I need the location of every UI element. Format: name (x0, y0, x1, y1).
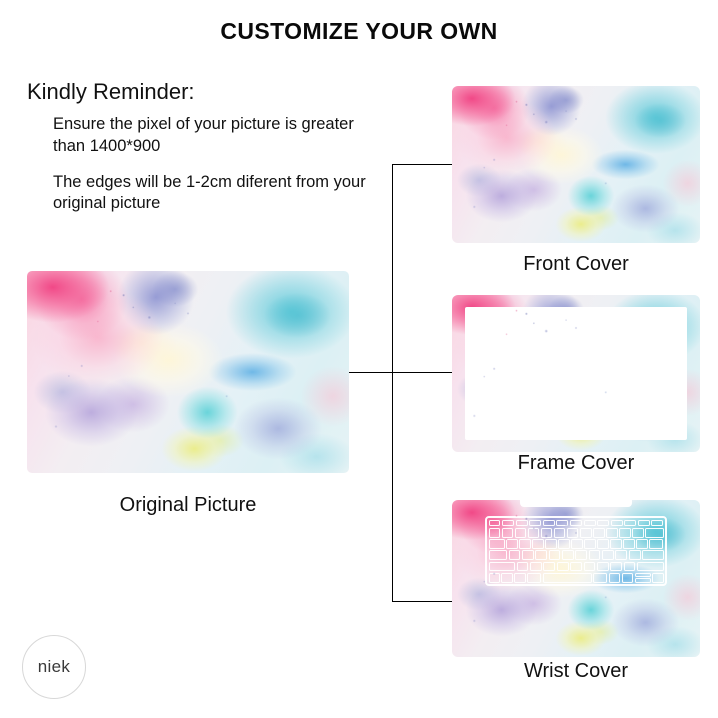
key (554, 528, 565, 538)
key (632, 528, 643, 538)
keyboard-row-home (489, 550, 664, 560)
key (506, 539, 517, 549)
connector-stem-line (349, 372, 392, 373)
key (528, 528, 539, 538)
key-shift-right (637, 562, 663, 572)
key (615, 550, 627, 560)
keyboard-overlay (485, 516, 667, 586)
key (545, 539, 556, 549)
key (529, 520, 541, 527)
wrist-cover-preview (452, 500, 700, 657)
key (571, 539, 582, 549)
key (567, 528, 578, 538)
reminder-block: Kindly Reminder: Ensure the pixel of you… (27, 80, 397, 229)
key (532, 539, 543, 549)
key (649, 539, 663, 549)
frame-cover-caption: Frame Cover (452, 452, 700, 475)
key (597, 539, 608, 549)
key (570, 520, 582, 527)
brand-logo-text: niek (38, 657, 70, 677)
keyboard-row-modifier (489, 573, 664, 583)
key (610, 539, 621, 549)
frame-cover-preview (452, 295, 700, 452)
key (651, 520, 663, 527)
key-command-right (593, 573, 607, 583)
key (624, 520, 636, 527)
wrist-cover-caption: Wrist Cover (452, 660, 700, 683)
key (619, 528, 630, 538)
key (584, 562, 596, 572)
reminder-heading: Kindly Reminder: (27, 80, 397, 104)
key (624, 562, 636, 572)
key-capslock (489, 550, 508, 560)
key (502, 528, 513, 538)
key (584, 539, 595, 549)
key (606, 528, 617, 538)
keyboard-row-function (489, 520, 664, 527)
key-tab (489, 539, 505, 549)
page-title: CUSTOMIZE YOUR OWN (0, 18, 718, 45)
key-arrow-down (635, 578, 651, 582)
key (597, 562, 609, 572)
key (530, 562, 542, 572)
key (610, 562, 622, 572)
key (623, 539, 634, 549)
key-arrow-right (652, 573, 663, 583)
key-arrow-up-down-stack (635, 573, 651, 583)
key-option-right (609, 573, 620, 583)
brand-logo: niek (22, 635, 86, 699)
key-return (642, 550, 663, 560)
key (519, 539, 530, 549)
key (517, 562, 529, 572)
key (522, 550, 534, 560)
keyboard-row-bottom-letters (489, 562, 664, 572)
wrist-cover-notch (520, 500, 632, 507)
key (562, 550, 574, 560)
reminder-item-edges: The edges will be 1-2cm diferent from yo… (53, 172, 383, 216)
key (541, 528, 552, 538)
keyboard-row-number (489, 528, 664, 538)
key-option-left (514, 573, 525, 583)
original-picture-image (27, 271, 349, 473)
key-shift-left (489, 562, 515, 572)
key (543, 562, 555, 572)
key (597, 520, 609, 527)
key (515, 528, 526, 538)
key (556, 520, 568, 527)
key (575, 550, 587, 560)
key-arrow-up (635, 573, 651, 577)
key-space (543, 573, 592, 583)
key (549, 550, 561, 560)
front-cover-caption: Front Cover (452, 253, 700, 276)
key (502, 520, 514, 527)
key (535, 550, 547, 560)
key (611, 520, 623, 527)
keyboard-row-top-letters (489, 539, 664, 549)
key (489, 520, 501, 527)
key (580, 528, 591, 538)
key (558, 539, 569, 549)
key-backspace (645, 528, 663, 538)
connector-branch-frame-cover (392, 372, 452, 373)
key (593, 528, 604, 538)
key-command-left (527, 573, 541, 583)
front-cover-preview (452, 86, 700, 243)
key-arrow-left (622, 573, 633, 583)
key (629, 550, 641, 560)
key (636, 539, 647, 549)
reminder-item-pixel: Ensure the pixel of your picture is grea… (53, 114, 383, 158)
key (489, 528, 500, 538)
connector-branch-front-cover (392, 164, 452, 165)
connector-trunk-line (392, 164, 393, 601)
key (557, 562, 569, 572)
frame-cover-window (465, 307, 687, 440)
key (516, 520, 528, 527)
key (584, 520, 596, 527)
key (543, 520, 555, 527)
key (602, 550, 614, 560)
key (638, 520, 650, 527)
key-fn (489, 573, 500, 583)
key-control (501, 573, 512, 583)
original-picture-caption: Original Picture (27, 494, 349, 517)
key (589, 550, 601, 560)
connector-branch-wrist-cover (392, 601, 452, 602)
key (509, 550, 521, 560)
key (570, 562, 582, 572)
